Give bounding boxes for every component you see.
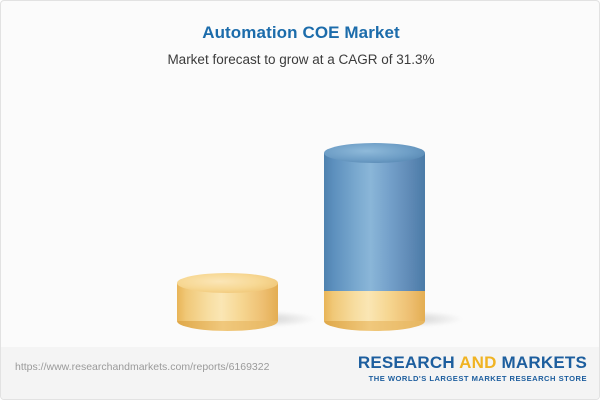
bar-top-ellipse-2024	[177, 273, 278, 293]
logo-word-and: AND	[459, 353, 496, 372]
bar-upper-segment-2030	[324, 153, 425, 291]
chart-title: Automation COE Market	[1, 23, 600, 43]
chart-figure: Automation COE Market Market forecast to…	[0, 0, 600, 400]
footer: https://www.researchandmarkets.com/repor…	[1, 347, 600, 399]
logo-tagline: THE WORLD'S LARGEST MARKET RESEARCH STOR…	[358, 374, 587, 383]
research-and-markets-logo[interactable]: RESEARCH AND MARKETS THE WORLD'S LARGEST…	[358, 354, 587, 383]
plot-area: USD 465.52 Million 2024 USD 2,380 Millio…	[1, 81, 600, 341]
logo-word-markets: MARKETS	[502, 353, 587, 372]
bar-cylinder-2030[interactable]	[324, 143, 425, 321]
bar-base-segment-2030	[324, 291, 425, 321]
chart-subtitle: Market forecast to grow at a CAGR of 31.…	[1, 52, 600, 67]
logo-wordmark: RESEARCH AND MARKETS	[358, 354, 587, 372]
source-url-link[interactable]: https://www.researchandmarkets.com/repor…	[15, 361, 269, 373]
bar-cylinder-2024[interactable]	[177, 273, 278, 321]
bar-top-ellipse-2030	[324, 143, 425, 163]
logo-word-research: RESEARCH	[358, 353, 455, 372]
